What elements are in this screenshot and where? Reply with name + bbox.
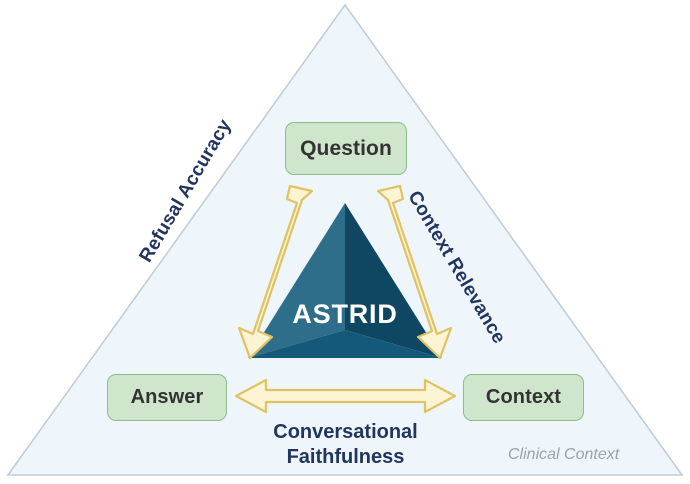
edge-label-conversational-faithfulness: Conversational Faithfulness xyxy=(228,420,463,470)
node-question-label: Question xyxy=(300,137,392,161)
footnote-clinical-context: Clinical Context xyxy=(508,446,619,464)
diagram-canvas: ASTRID Question Answer Context Refusal A… xyxy=(0,0,690,484)
node-context[interactable]: Context xyxy=(463,374,584,421)
diagram-graphics xyxy=(0,0,690,484)
node-question[interactable]: Question xyxy=(285,122,407,175)
edge-label-line-1: Conversational xyxy=(228,420,463,445)
astrid-wordmark: ASTRID xyxy=(248,299,442,330)
node-context-label: Context xyxy=(486,386,561,409)
node-answer-label: Answer xyxy=(131,386,204,409)
node-answer[interactable]: Answer xyxy=(107,374,227,421)
edge-label-line-2: Faithfulness xyxy=(228,445,463,470)
